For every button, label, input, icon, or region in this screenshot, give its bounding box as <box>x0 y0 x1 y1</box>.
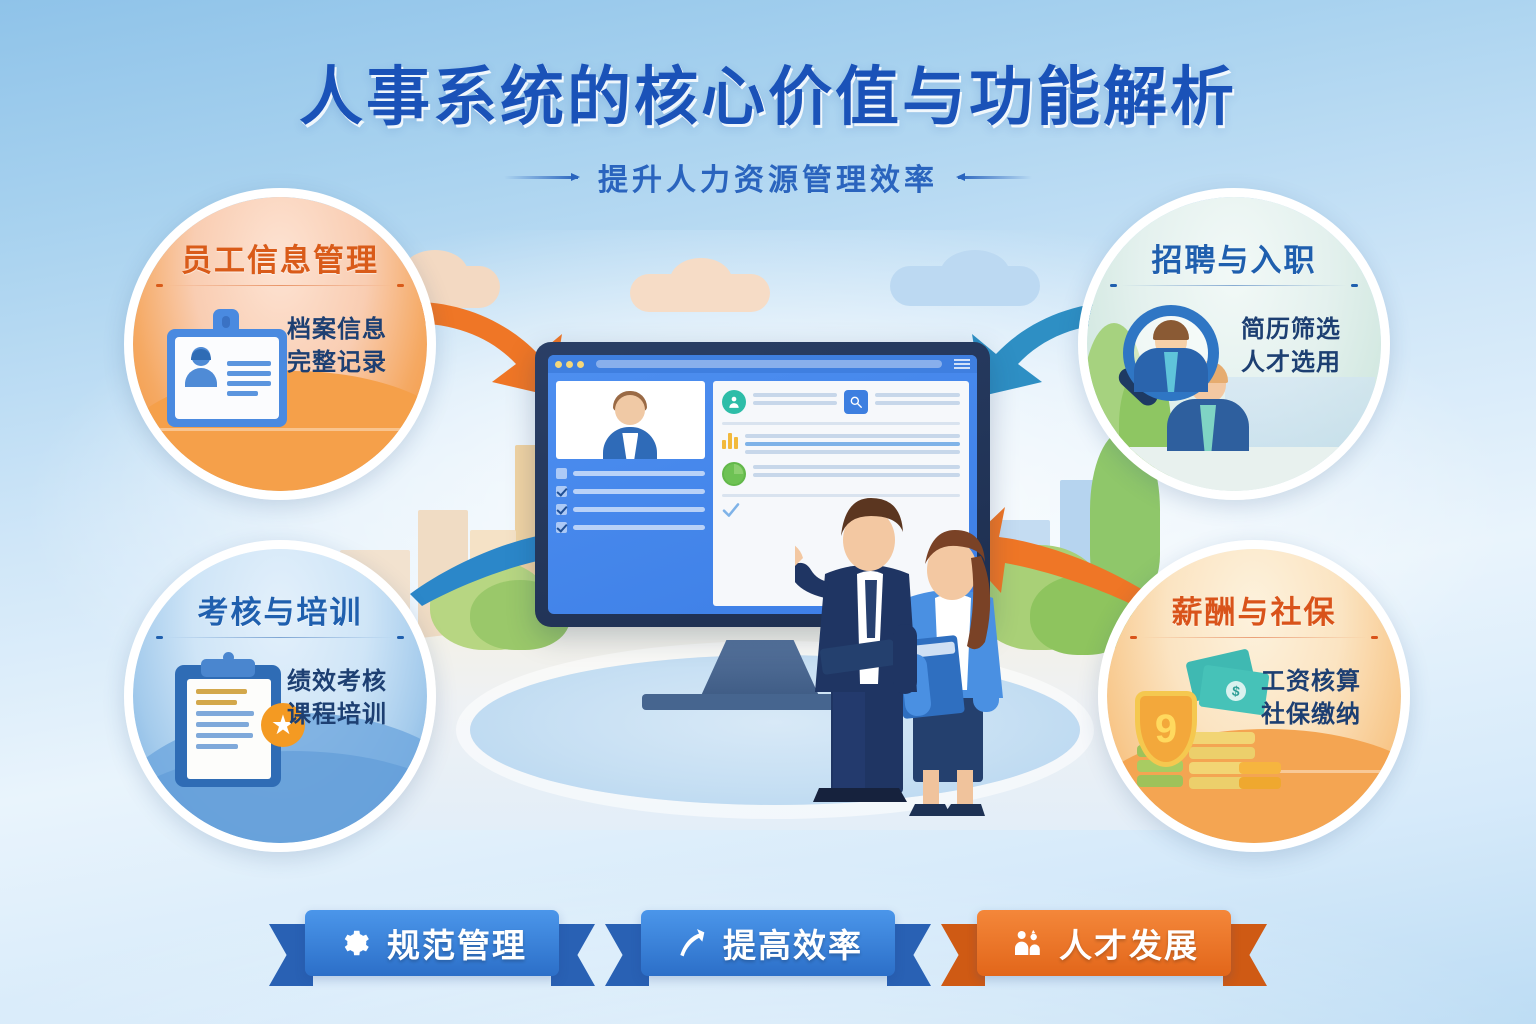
subtitle-row: 提升人力资源管理效率 <box>0 155 1536 199</box>
coin-stack-orange <box>1239 759 1281 789</box>
checklist-label <box>573 525 705 530</box>
ribbon-row: 规范管理 提高效率 <box>0 910 1536 976</box>
node-title: 招聘与入职 <box>1087 235 1381 280</box>
clipboard-clip <box>201 659 255 677</box>
node-rule <box>1121 285 1347 286</box>
dashboard-row-profile <box>722 390 960 414</box>
magnifier-ring <box>1123 305 1219 401</box>
badge-card-face <box>175 337 279 419</box>
node-desc-line-2: 课程培训 <box>273 698 401 731</box>
checkbox-icon[interactable] <box>556 468 567 479</box>
badge-avatar <box>183 345 219 389</box>
badge-card <box>167 329 287 427</box>
page-title: 人事系统的核心价值与功能解析 <box>0 46 1536 138</box>
person-avatar-icon <box>722 390 746 414</box>
checklist-item[interactable] <box>556 504 705 515</box>
cloud-warm-mid-bump <box>670 258 732 302</box>
man-figure <box>795 498 917 802</box>
node-desc-line-2: 人才选用 <box>1227 346 1355 379</box>
ribbon-standard-management[interactable]: 规范管理 <box>305 910 559 976</box>
pie-chart-icon <box>722 462 746 486</box>
check-icon <box>722 503 740 517</box>
checkbox-icon[interactable] <box>556 504 567 515</box>
window-dot-3 <box>577 361 584 368</box>
screen-title-bar <box>548 355 977 373</box>
checkbox-icon[interactable] <box>556 522 567 533</box>
node-title: 员工信息管理 <box>133 235 427 280</box>
node-training[interactable]: 考核与培训 ★ 绩效考核 课程培训 <box>124 540 436 852</box>
node-desc-line-1: 简历筛选 <box>1227 313 1355 346</box>
ribbon-body[interactable]: 人才发展 <box>977 910 1231 976</box>
badge-text-lines <box>227 345 271 411</box>
node-recruitment[interactable]: 招聘与入职 简历筛选 人才选用 <box>1078 188 1390 500</box>
node-description: 绩效考核 课程培训 <box>273 665 401 731</box>
node-description: 简历筛选 人才选用 <box>1227 313 1355 379</box>
node-desc-line-2: 完整记录 <box>273 346 401 379</box>
gear-icon <box>337 925 373 961</box>
node-desc-line-1: 绩效考核 <box>273 665 401 698</box>
ribbon-label: 规范管理 <box>387 919 527 967</box>
node-rule <box>1141 637 1367 638</box>
menu-icon[interactable] <box>954 359 970 369</box>
node-desc-line-1: 工资核算 <box>1247 665 1375 698</box>
ribbon-label: 提高效率 <box>723 919 863 967</box>
ribbon-body[interactable]: 提高效率 <box>641 910 895 976</box>
infographic-canvas: 人事系统的核心价值与功能解析 提升人力资源管理效率 员工信息管理 <box>0 0 1536 1024</box>
dashboard-divider <box>722 422 960 425</box>
node-description: 工资核算 社保缴纳 <box>1247 665 1375 731</box>
team-icon <box>1009 925 1045 961</box>
page-subtitle: 提升人力资源管理效率 <box>598 155 938 199</box>
checklist-item[interactable] <box>556 468 705 479</box>
checklist-label <box>573 489 705 494</box>
checklist-item[interactable] <box>556 522 705 533</box>
node-description: 档案信息 完整记录 <box>273 313 401 379</box>
subtitle-dash-right <box>958 176 1032 179</box>
dashboard-text-lines <box>753 390 838 405</box>
employee-side-panel <box>556 381 705 606</box>
employee-photo <box>556 381 705 459</box>
node-desc-line-2: 社保缴纳 <box>1247 698 1375 731</box>
arrow-up-icon <box>673 925 709 961</box>
ribbon-label: 人才发展 <box>1059 919 1199 967</box>
window-dot-1 <box>555 361 562 368</box>
dashboard-text-lines <box>875 390 960 405</box>
node-desc-line-1: 档案信息 <box>273 313 401 346</box>
ribbon-talent-development[interactable]: 人才发展 <box>977 910 1231 976</box>
window-dot-2 <box>566 361 573 368</box>
node-title: 考核与培训 <box>133 587 427 632</box>
bar-chart-icon <box>722 431 738 449</box>
clipboard-page <box>187 679 271 779</box>
node-rule <box>167 285 393 286</box>
checklist-label <box>573 471 705 476</box>
ribbon-improve-efficiency[interactable]: 提高效率 <box>641 910 895 976</box>
address-bar[interactable] <box>596 360 942 368</box>
node-title: 薪酬与社保 <box>1107 587 1401 632</box>
node-rule <box>167 637 393 638</box>
node-ground <box>1087 447 1381 491</box>
ribbon-body[interactable]: 规范管理 <box>305 910 559 976</box>
business-people <box>795 448 1020 820</box>
node-salary[interactable]: 薪酬与社保 $ 9 <box>1098 540 1410 852</box>
search-icon[interactable] <box>844 390 868 414</box>
checklist-item[interactable] <box>556 486 705 497</box>
checklist-label <box>573 507 705 512</box>
checkbox-icon[interactable] <box>556 486 567 497</box>
avatar-head <box>615 395 645 425</box>
subtitle-dash-left <box>504 176 578 179</box>
node-employee-info[interactable]: 员工信息管理 档案信息 完整 <box>124 188 436 500</box>
